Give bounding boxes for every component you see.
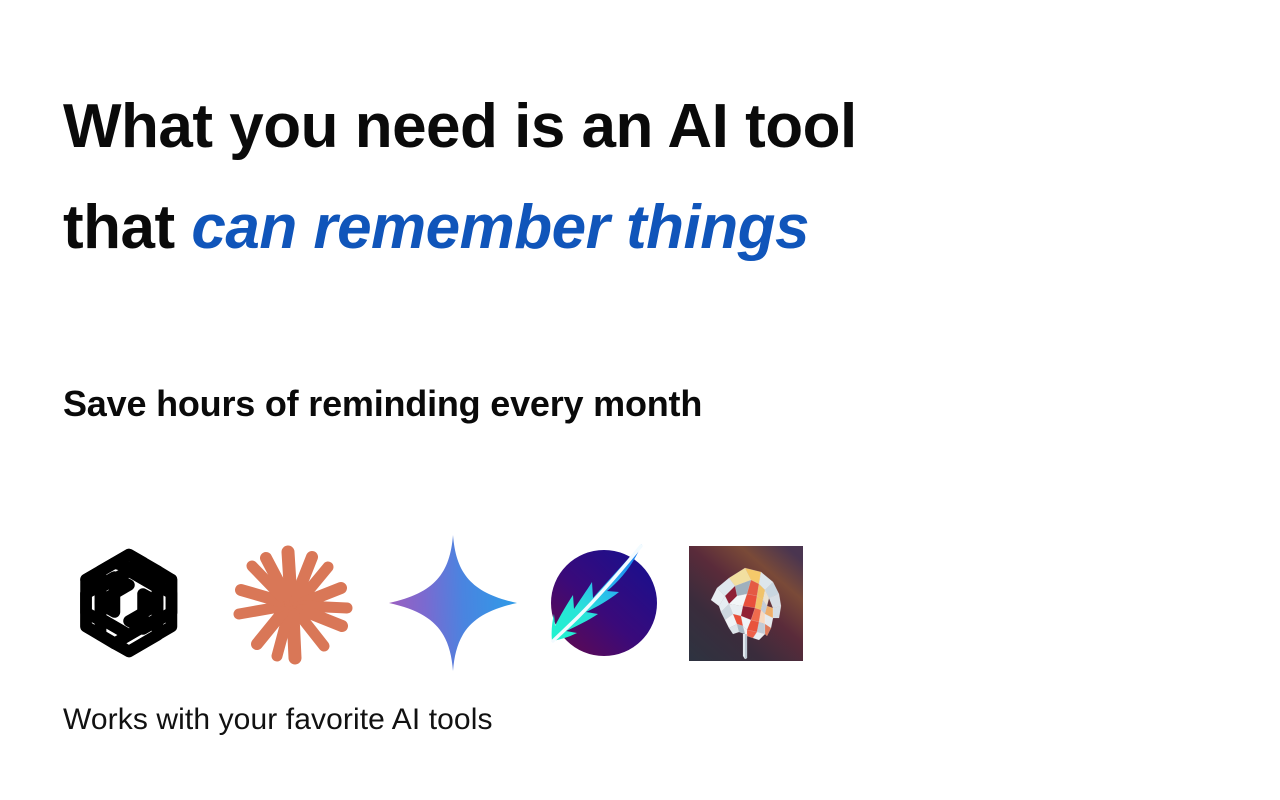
- low-poly-brain-icon: [689, 546, 803, 661]
- subheading: Save hours of reminding every month: [63, 381, 702, 427]
- headline-line-2-accent: can remember things: [191, 193, 809, 262]
- headline-line-1: What you need is an AI tool: [63, 92, 857, 161]
- brain-app-logo: [689, 540, 803, 666]
- perplexity-logo: [549, 540, 659, 666]
- claude-logo: [225, 540, 357, 666]
- logo-row-caption: Works with your favorite AI tools: [63, 700, 493, 740]
- page-title: What you need is an AI tool that can rem…: [63, 76, 1063, 278]
- headline-line-2-plain: that: [63, 193, 191, 262]
- claude-starburst-icon: [225, 540, 357, 666]
- gemini-sparkle-icon: [387, 533, 519, 673]
- slide-canvas: What you need is an AI tool that can rem…: [0, 0, 1280, 800]
- openai-logo: [63, 540, 195, 666]
- gemini-logo: [387, 540, 519, 666]
- feather-circle-icon: [549, 540, 659, 666]
- ai-tool-logo-row: [63, 540, 803, 666]
- openai-knot-icon: [63, 540, 195, 666]
